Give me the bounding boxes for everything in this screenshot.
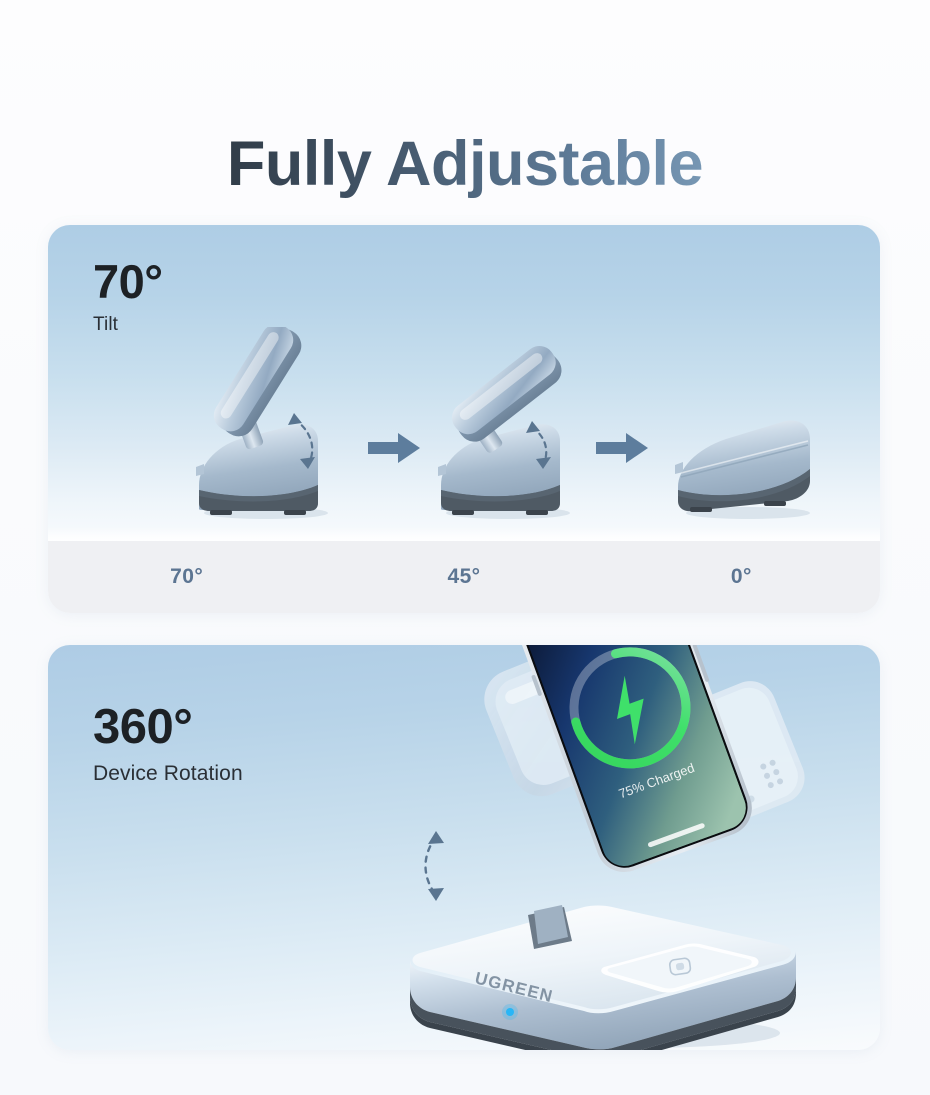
page-title: Fully Adjustable	[0, 128, 930, 200]
angle-label-0: 0°	[603, 541, 880, 613]
angle-label-70: 70°	[48, 541, 325, 613]
stand-stage-0	[648, 327, 848, 527]
rotation-arrow-icon	[426, 831, 445, 901]
transition-arrow-icon	[596, 431, 648, 465]
rotation-feature-card: 360° Device Rotation	[48, 645, 880, 1050]
stand-stage-70	[166, 327, 366, 527]
charger-hero-illustration: UGREEN	[378, 645, 880, 1050]
rotation-label-block: 360° Device Rotation	[93, 703, 243, 786]
tilt-caption: Tilt	[93, 314, 163, 336]
angle-labels-strip: 70° 45° 0°	[48, 541, 880, 613]
charger-base: UGREEN	[410, 905, 796, 1050]
angle-label-45: 45°	[325, 541, 602, 613]
surface-highlight	[48, 527, 880, 541]
tilt-value: 70°	[93, 258, 163, 305]
transition-arrow-icon	[368, 431, 420, 465]
tilt-illustration-stage: 70° Tilt	[48, 225, 880, 541]
tilt-label-block: 70° Tilt	[93, 258, 163, 336]
tilt-feature-card: 70° Tilt	[48, 225, 880, 613]
rotation-value: 360°	[93, 703, 243, 752]
stand-stage-45	[408, 327, 608, 527]
rotation-caption: Device Rotation	[93, 762, 243, 786]
